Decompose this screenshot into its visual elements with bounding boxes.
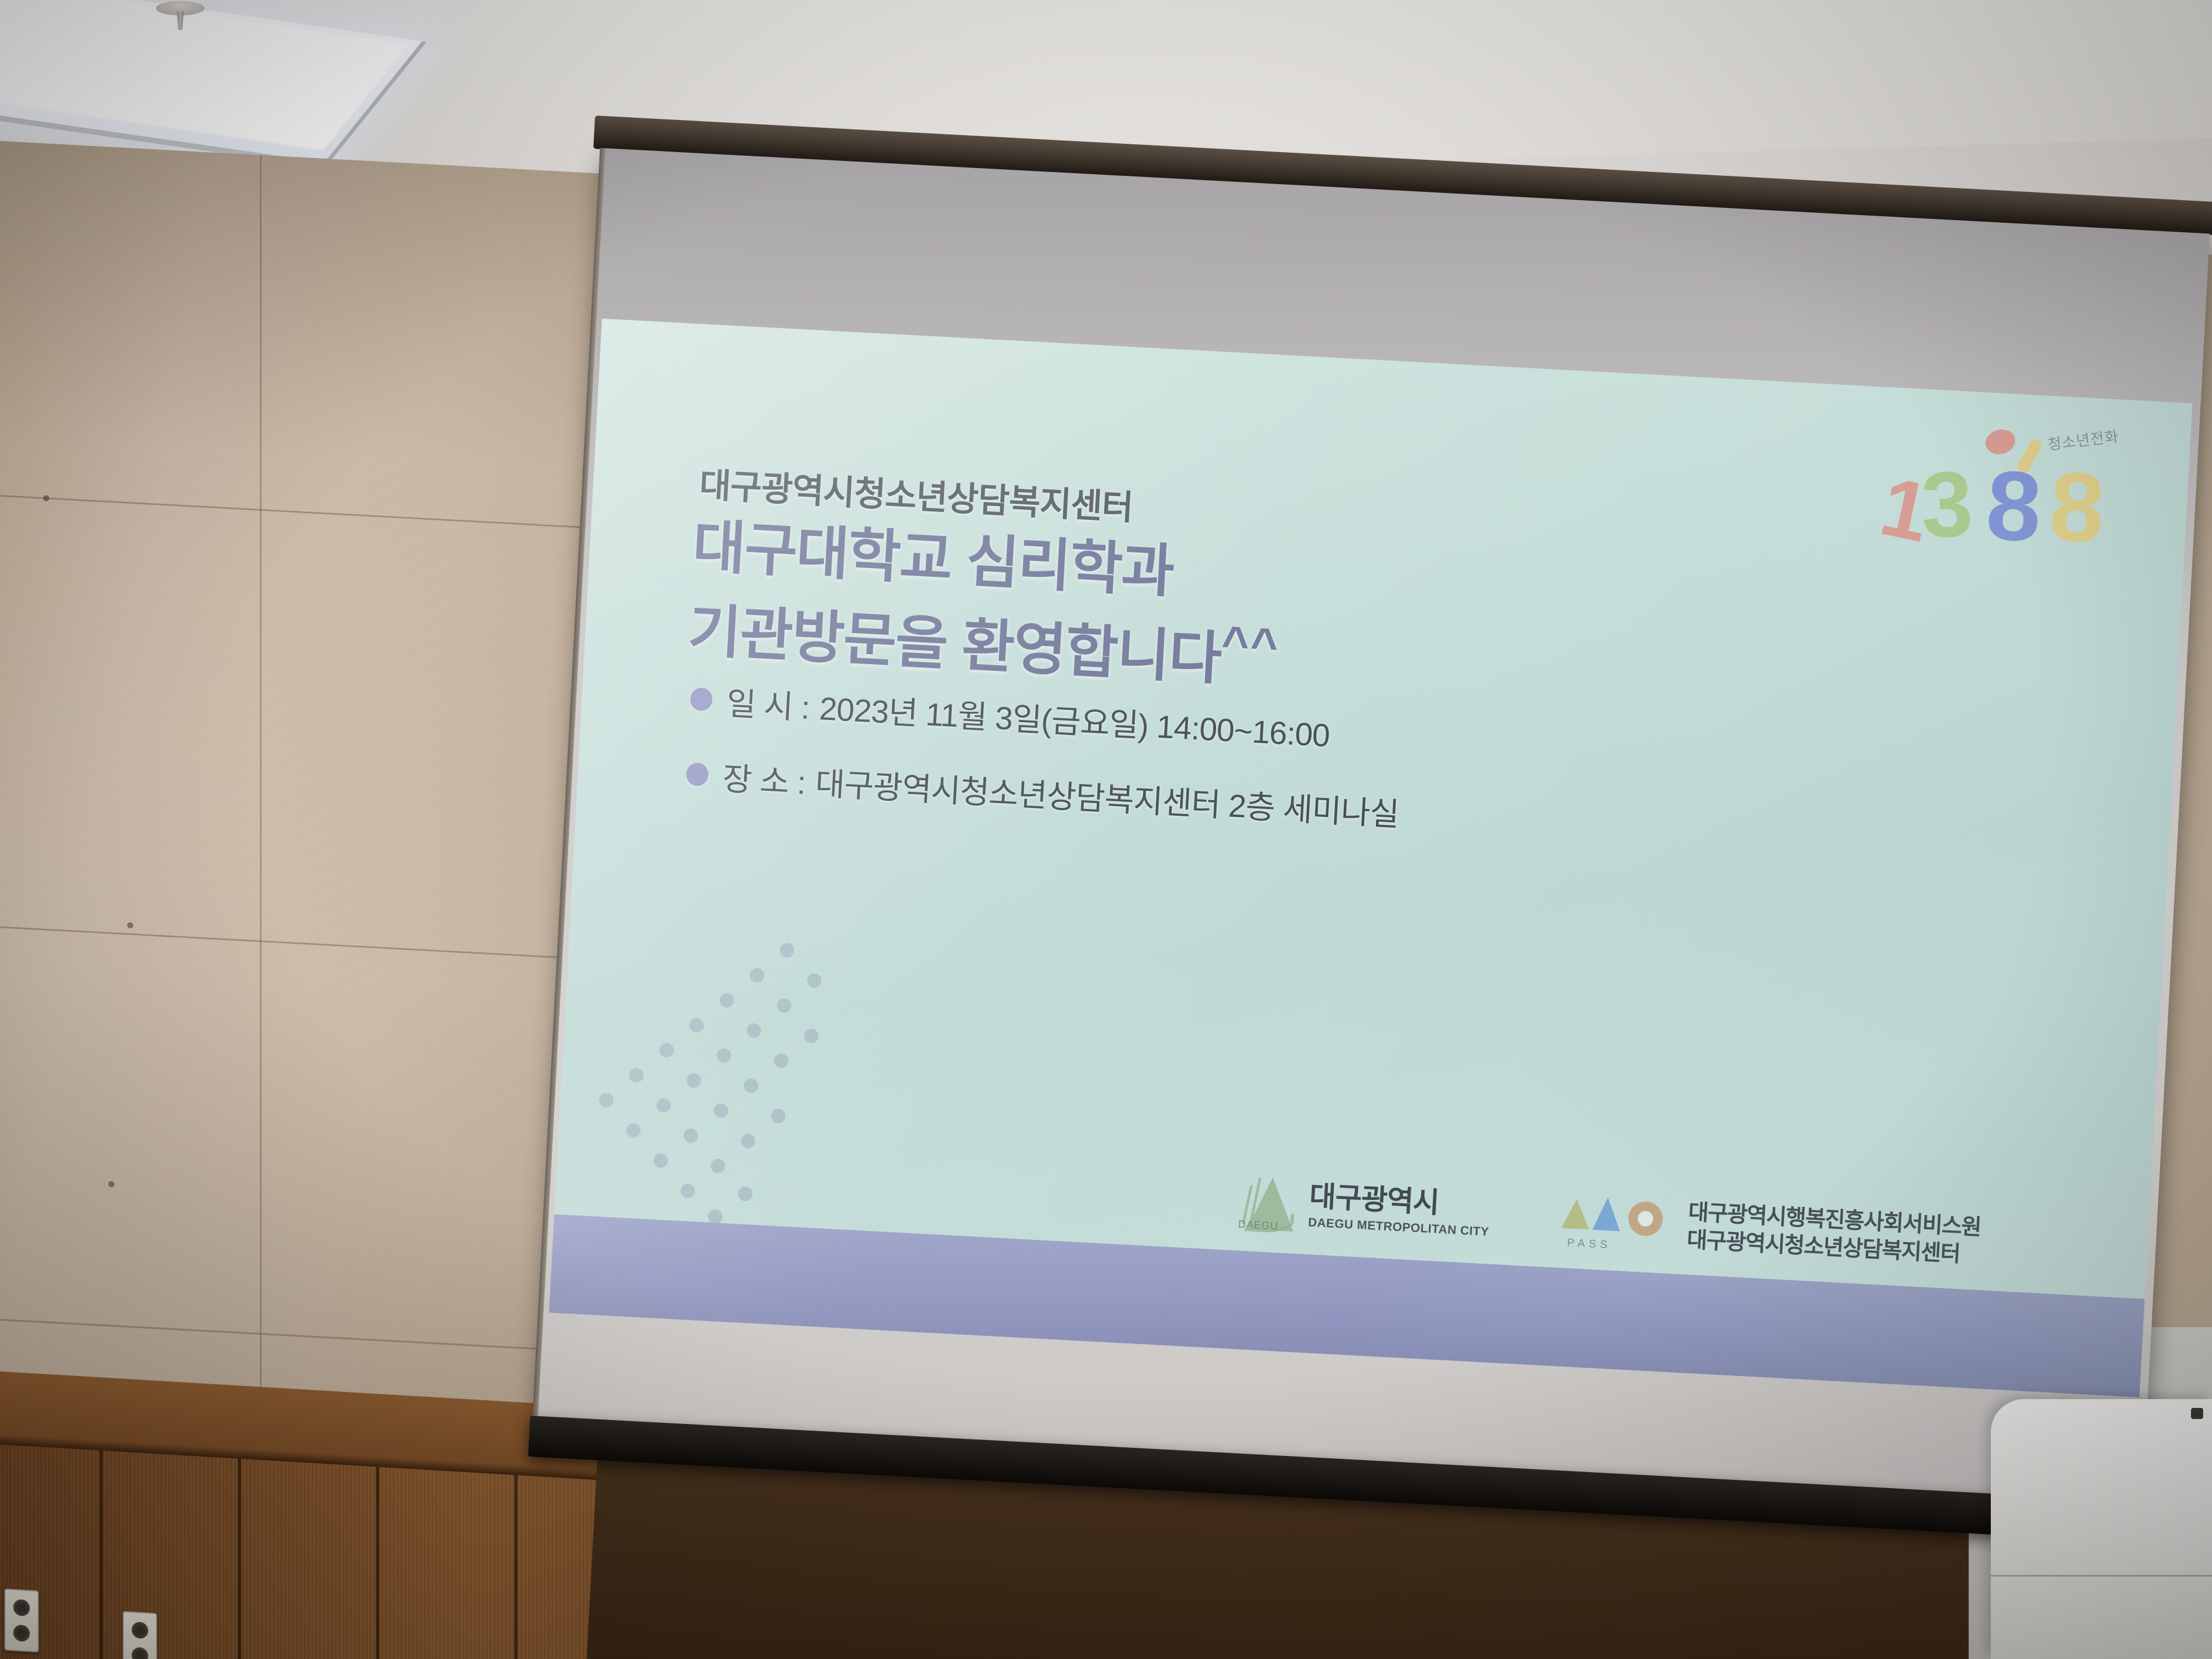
detail-label-location: 장 소 : xyxy=(722,753,807,804)
detail-row-datetime: 일 시 : 2023년 11월 3일(금요일) 14:00~16:00 xyxy=(689,676,1404,760)
white-storage-unit[interactable] xyxy=(1991,1399,2212,1659)
wall-fastener xyxy=(127,922,133,928)
slide-title-line2-text: 기관방문을 환영합니다 xyxy=(687,599,1223,691)
unit-corner-nub-icon xyxy=(2191,1408,2203,1419)
daegu-mountain-icon: DAEGU xyxy=(1234,1172,1298,1235)
bullet-icon xyxy=(690,687,713,712)
power-outlet[interactable] xyxy=(4,1588,39,1652)
logo-digit-8-first: 8 xyxy=(1984,456,2043,557)
projector-screen: 청소년전화 1 3 8 8 대구광역시청소년상담복지센터 대구대학교 심리학과 … xyxy=(538,148,2210,1504)
slide-detail-list: 일 시 : 2023년 11월 3일(금요일) 14:00~16:00 장 소 … xyxy=(684,676,1404,864)
pass-logo: PASS 대구광역시행복진흥사회서비스원 대구광역시청소년상담복지센터 xyxy=(1559,1191,1981,1270)
daegu-name-kr: 대구광역시 xyxy=(1309,1182,1491,1220)
logo-1388: 청소년전화 1 3 8 8 xyxy=(1876,414,2126,559)
dot-pattern-decoration xyxy=(593,927,951,1232)
projector-screen-assembly: 청소년전화 1 3 8 8 대구광역시청소년상담복지센터 대구대학교 심리학과 … xyxy=(535,148,2210,1548)
cabinet-door-seam xyxy=(100,1451,103,1659)
pass-mark-caption: PASS xyxy=(1567,1237,1611,1251)
wall-fastener xyxy=(43,495,49,502)
logo-digit-8-second: 8 xyxy=(2047,457,2107,558)
detail-row-location: 장 소 : 대구광역시청소년상담복지센터 2층 세미나실 xyxy=(685,750,1400,835)
daegu-city-logo: DAEGU 대구광역시 DAEGU METROPOLITAN CITY xyxy=(1234,1172,1491,1245)
unit-panel-line xyxy=(1991,1575,2212,1577)
slide-title: 대구대학교 심리학과 기관방문을 환영합니다^^ xyxy=(686,510,1285,700)
daegu-mark-caption: DAEGU xyxy=(1238,1219,1279,1233)
bullet-icon xyxy=(686,762,709,786)
cabinet-door-seam xyxy=(376,1467,379,1659)
slide-title-emoticon: ^^ xyxy=(1220,617,1280,672)
fire-sprinkler-icon xyxy=(156,1,205,30)
pass-wordmark: 대구광역시행복진흥사회서비스원 대구광역시청소년상담복지센터 xyxy=(1686,1198,1981,1270)
daegu-city-wordmark: 대구광역시 DAEGU METROPOLITAN CITY xyxy=(1308,1182,1491,1239)
logo-digit-3: 3 xyxy=(1919,457,1974,551)
cabinet-door-seam xyxy=(514,1475,518,1659)
wall-seam-vertical xyxy=(260,155,262,1515)
wall-fastener xyxy=(108,1181,114,1188)
detail-label-datetime: 일 시 : xyxy=(726,677,811,728)
projected-slide: 청소년전화 1 3 8 8 대구광역시청소년상담복지센터 대구대학교 심리학과 … xyxy=(549,319,2193,1397)
cabinet-door-seam xyxy=(238,1459,241,1659)
detail-value-location: 대구광역시청소년상담복지센터 2층 세미나실 xyxy=(815,758,1400,835)
power-outlet[interactable] xyxy=(123,1611,157,1659)
pass-chevron-icon: PASS xyxy=(1559,1191,1678,1254)
seminar-room-photo: 청소년전화 1 3 8 8 대구광역시청소년상담복지센터 대구대학교 심리학과 … xyxy=(0,0,2212,1659)
